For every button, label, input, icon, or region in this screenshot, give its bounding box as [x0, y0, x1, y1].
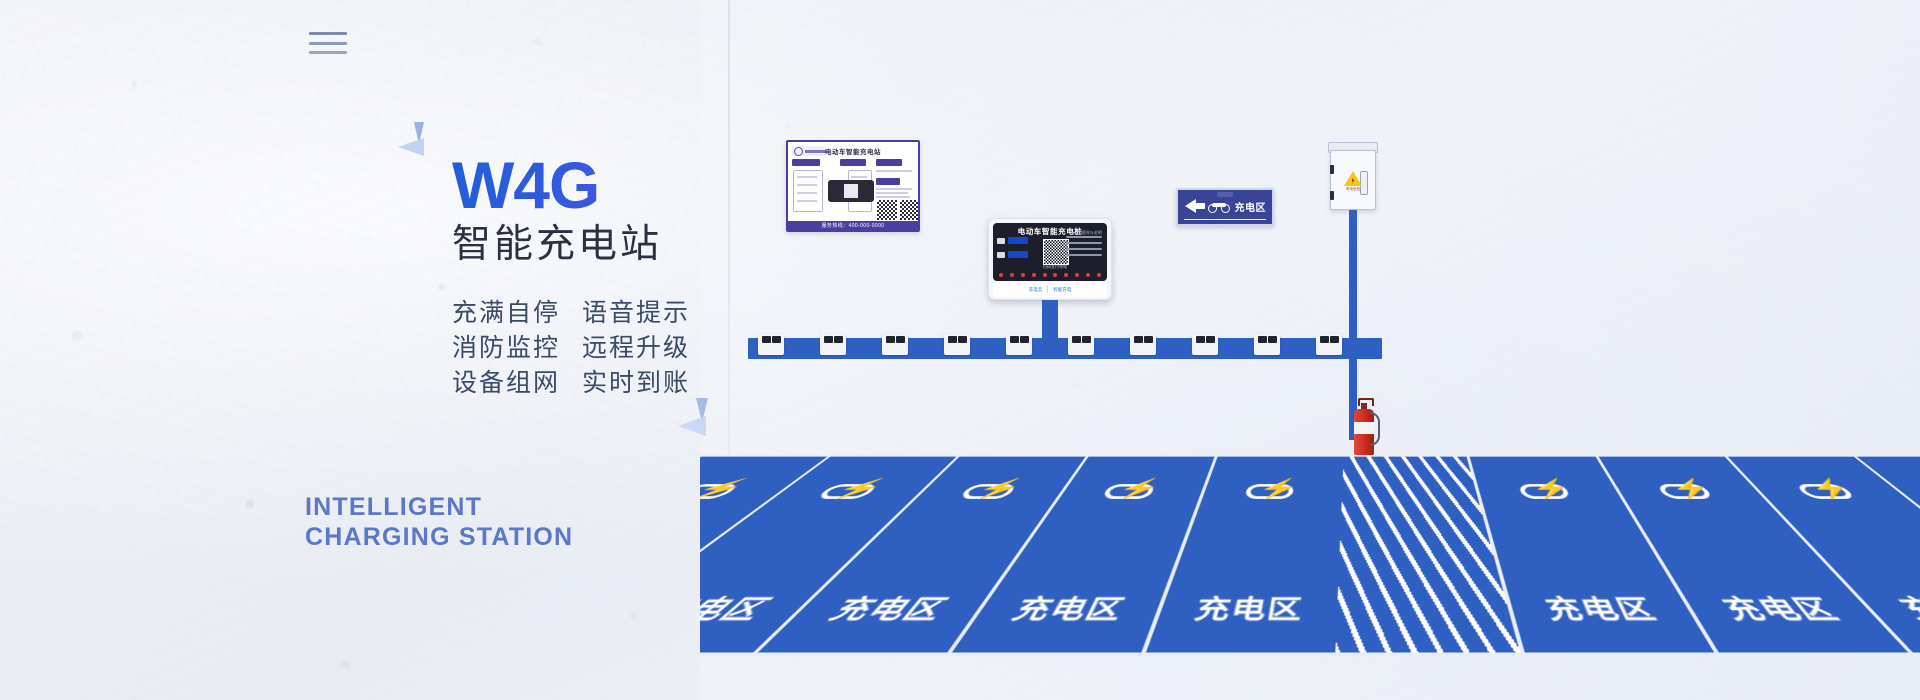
english-line-2: CHARGING STATION [305, 522, 573, 552]
pile-label-port [997, 238, 1005, 244]
fire-extinguisher-icon [1351, 398, 1377, 460]
hamburger-menu-icon[interactable] [309, 32, 347, 54]
pile-port[interactable] [1010, 273, 1014, 278]
poster-side-line [851, 176, 867, 178]
sign-underline [1184, 219, 1266, 221]
pile-brand-left: 充电云 [1029, 287, 1043, 293]
wall-corner-line [728, 0, 730, 470]
page-subtitle: 智能充电站 [452, 222, 712, 268]
wall-poster: 电动车智能充电站 服务热线：400-000-0000 [786, 140, 920, 232]
cabinet-warning-text: 有电危险 [1339, 187, 1367, 192]
pile-panel: 电动车智能充电桩 扫码支付充电 计费规则与说明 [993, 223, 1107, 281]
electrical-cabinet: 有电危险 [1328, 142, 1378, 210]
feature-item: 远程升级 [582, 331, 690, 364]
headline-block: W4G 智能充电站 [452, 152, 712, 268]
extinguisher-hose [1370, 412, 1380, 446]
poster-tag-right-1 [876, 159, 902, 166]
scooter-charging-icon: ⚡ [956, 479, 1031, 501]
wall-socket[interactable] [1316, 334, 1342, 355]
poster-flow-step [797, 192, 817, 194]
poster-title: 电动车智能充电站 [788, 146, 918, 156]
sign-mount [1217, 192, 1233, 197]
floor-plate: ⚡ 充电区 ⚡ 充电区 ⚡ 充电区 ⚡ 充电区 ⚡ 充电区 [700, 455, 1920, 656]
charging-pile-device[interactable]: 电动车智能充电桩 扫码支付充电 计费规则与说明 [988, 218, 1112, 300]
wall-socket-rail [748, 338, 1382, 359]
scooter-charging-icon: ⚡ [812, 479, 894, 501]
pile-port[interactable] [1086, 273, 1090, 278]
parking-bay-label: 充电区 [971, 589, 1165, 626]
high-voltage-warning-icon [1344, 171, 1362, 186]
pile-lcd-time [1008, 251, 1028, 258]
pile-port[interactable] [1075, 273, 1079, 278]
parking-floor: ⚡ 充电区 ⚡ 充电区 ⚡ 充电区 ⚡ 充电区 ⚡ 充电区 [700, 455, 1920, 700]
english-caption: INTELLIGENT CHARGING STATION [305, 492, 573, 552]
pile-lcd-port [1008, 237, 1028, 244]
wall-socket[interactable] [758, 334, 784, 355]
scooter-icon [1208, 201, 1230, 213]
feature-list: 充满自停 语音提示 消防监控 远程升级 设备组网 实时到账 [452, 296, 690, 399]
wall-socket[interactable] [1130, 334, 1156, 355]
promo-banner: W4G 智能充电站 充满自停 语音提示 消防监控 远程升级 设备组网 实时到账 … [0, 0, 1920, 700]
poster-tag-left [792, 159, 820, 166]
pile-port[interactable] [1097, 273, 1101, 278]
parking-bay-label: 充电区 [786, 589, 993, 626]
poster-footer: 服务热线：400-000-0000 [788, 221, 918, 230]
poster-tag-right-2 [876, 178, 900, 185]
feature-item: 设备组网 [452, 366, 560, 399]
scooter-charging-icon: ⚡ [1652, 479, 1725, 501]
pile-port[interactable] [1021, 273, 1025, 278]
pile-port[interactable] [1043, 273, 1047, 278]
pile-port[interactable] [1032, 273, 1036, 278]
pile-brand-right: 智能充电 [1053, 287, 1071, 293]
parking-bay-label: 充电区 [1680, 589, 1883, 626]
sign-label: 充电区 [1235, 199, 1267, 214]
pile-right-text [1066, 236, 1102, 260]
pile-qr-caption: 扫码支付充电 [1037, 264, 1073, 270]
scooter-charging-icon: ⚡ [700, 479, 757, 501]
poster-note-line-2 [876, 192, 908, 194]
wall-socket[interactable] [1006, 334, 1032, 355]
poster-note-line-1 [876, 188, 912, 190]
wall-socket[interactable] [1254, 334, 1280, 355]
menu-bar-2 [309, 42, 347, 45]
poster-tag-mid [840, 159, 866, 166]
feature-item: 实时到账 [582, 366, 690, 399]
english-line-1: INTELLIGENT [305, 492, 573, 522]
charging-station-illustration: 电动车智能充电站 服务热线：400-000-0000 [700, 0, 1920, 700]
poster-footer-text: 服务热线：400-000-0000 [822, 222, 885, 229]
pile-footer: 充电云 智能充电 [993, 282, 1107, 297]
parking-bay-label: 充电区 [1156, 589, 1338, 626]
scooter-charging-icon: ⚡ [1099, 479, 1166, 501]
cabinet-body: 有电危险 [1330, 150, 1376, 210]
poster-flow-step [797, 176, 817, 178]
poster-qr-wechat [877, 200, 897, 220]
scooter-charging-icon: ⚡ [1515, 479, 1580, 501]
page-title: W4G [452, 152, 712, 218]
wall-socket[interactable] [1068, 334, 1094, 355]
feature-item: 消防监控 [452, 331, 560, 364]
cabinet-hinge-lower [1330, 191, 1334, 200]
scooter-charging-icon: ⚡ [1789, 479, 1869, 501]
poster-price-line [876, 170, 912, 172]
pile-port[interactable] [999, 273, 1003, 278]
feature-item: 充满自停 [452, 296, 560, 329]
pile-label-time [997, 252, 1005, 258]
pile-port-row[interactable] [999, 273, 1101, 278]
poster-flow-step [797, 184, 817, 186]
pile-port[interactable] [1053, 273, 1057, 278]
pile-port[interactable] [1064, 273, 1068, 278]
wall-socket[interactable] [944, 334, 970, 355]
left-arrow-icon [1185, 199, 1196, 213]
menu-bar-3 [309, 51, 347, 54]
pile-support-stem [1042, 300, 1058, 338]
scooter-charging-icon: ⚡ [1243, 479, 1303, 501]
wall-socket[interactable] [1192, 334, 1218, 355]
parking-bay-label: 充电区 [1507, 589, 1698, 626]
poster-qr-alipay [900, 200, 920, 220]
wall-socket[interactable] [882, 334, 908, 355]
cabinet-hinge-upper [1330, 165, 1334, 174]
feature-item: 语音提示 [582, 296, 690, 329]
wall-socket[interactable] [820, 334, 846, 355]
decorative-arrows-top [398, 122, 438, 164]
direction-sign: 充电区 [1176, 188, 1274, 226]
menu-bar-1 [309, 32, 347, 35]
poster-flow-step [797, 200, 817, 202]
poster-device-image [828, 180, 874, 202]
poster-note-line-3 [876, 196, 910, 198]
